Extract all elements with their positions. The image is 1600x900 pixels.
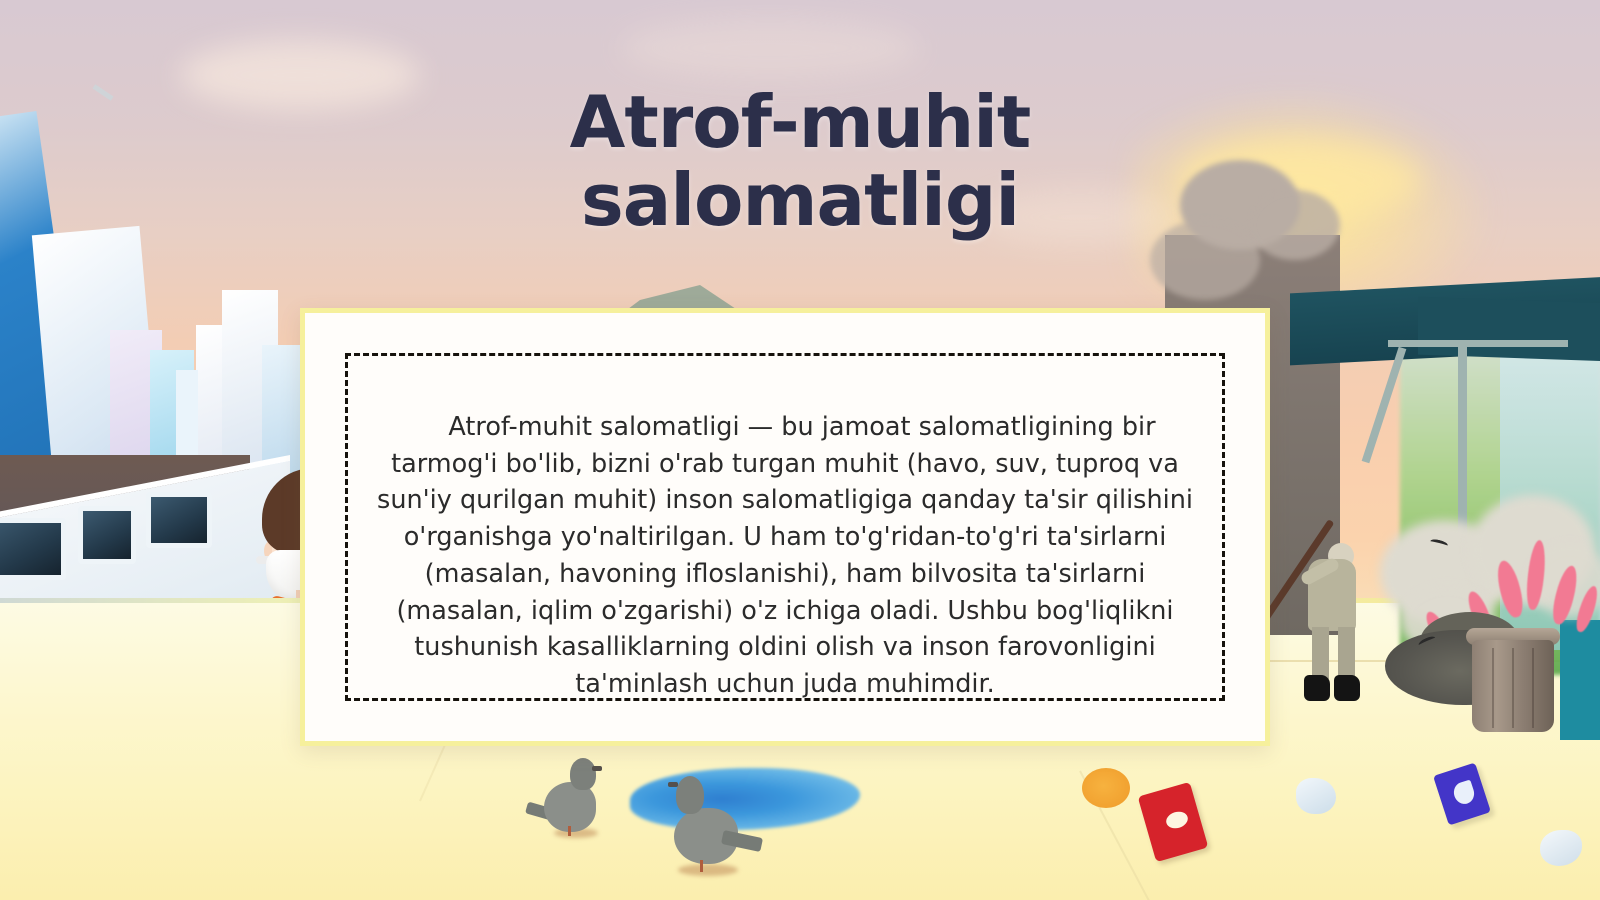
- litter-orange-peel: [1082, 768, 1130, 808]
- train-window-2: [78, 506, 136, 564]
- content-card: Atrof-muhit salomatligi — bu jamoat salo…: [300, 308, 1270, 746]
- worker-leg-right: [1338, 627, 1355, 679]
- worker-boot-left: [1304, 675, 1330, 701]
- worker-with-rake: [1300, 535, 1370, 685]
- bin-rib-2: [1512, 648, 1514, 728]
- bin-rib-1: [1492, 648, 1494, 728]
- pigeon-right-head: [676, 776, 704, 814]
- pigeon-right-leg: [700, 860, 703, 872]
- pigeon-right-shadow: [678, 864, 738, 876]
- train-window-1: [0, 518, 66, 580]
- page-title: Atrof-muhit salomatligi: [0, 84, 1600, 240]
- canopy-beam: [1388, 340, 1568, 347]
- pigeon-left-beak: [592, 766, 602, 771]
- train-window-3: [146, 492, 212, 548]
- pigeon-left: [530, 752, 610, 842]
- pigeon-right-beak: [668, 782, 678, 787]
- pigeon-left-head: [570, 758, 596, 790]
- pigeon-right: [660, 768, 760, 878]
- canopy-roof-secondary: [1418, 297, 1600, 362]
- worker-leg-left: [1312, 627, 1329, 679]
- pigeon-left-body: [544, 782, 596, 832]
- teal-structure-block: [1560, 620, 1600, 740]
- slide-canvas: 和谐: [0, 0, 1600, 900]
- litter-paper-ball-1: [1296, 778, 1336, 814]
- pigeon-left-leg: [568, 826, 571, 836]
- bin-rib-3: [1532, 648, 1534, 728]
- body-paragraph: Atrof-muhit salomatligi — bu jamoat salo…: [377, 409, 1193, 703]
- worker-boot-right: [1334, 675, 1360, 701]
